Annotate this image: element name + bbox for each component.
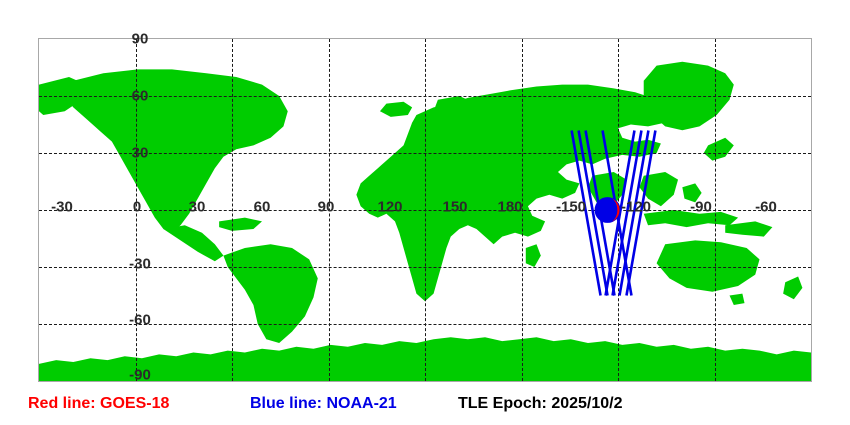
- antarctica: [39, 337, 811, 381]
- lat-tick--30: -30: [129, 257, 151, 272]
- japan: [704, 138, 734, 161]
- caribbean: [219, 218, 262, 231]
- lat-tick-30: 30: [132, 146, 149, 161]
- legend-red-line: Red line: GOES-18: [28, 396, 169, 412]
- lon-tick-30: 30: [189, 200, 206, 215]
- lon-tick--150: -150: [556, 200, 586, 215]
- australia: [657, 240, 760, 291]
- tasmania: [730, 294, 745, 305]
- lon-tick--90: -90: [690, 200, 712, 215]
- lon-tick--60: -60: [755, 200, 777, 215]
- lat-tick-60: 60: [132, 89, 149, 104]
- iceland: [380, 102, 412, 117]
- legend-tle-epoch: TLE Epoch: 2025/10/2: [458, 396, 623, 412]
- lon-tick-180: 180: [497, 200, 522, 215]
- lat-tick-90: 90: [132, 32, 149, 47]
- new-zealand: [783, 277, 802, 300]
- eurasia-africa: [356, 85, 673, 302]
- lon-tick-60: 60: [254, 200, 271, 215]
- lat-tick--60: -60: [129, 313, 151, 328]
- south-america: [223, 244, 317, 343]
- new-guinea: [725, 221, 772, 236]
- lon-tick--120: -120: [621, 200, 651, 215]
- legend: Red line: GOES-18 Blue line: NOAA-21 TLE…: [0, 392, 850, 422]
- lon-tick-150: 150: [442, 200, 467, 215]
- lon-tick-120: 120: [377, 200, 402, 215]
- lon-tick-0: 0: [133, 200, 141, 215]
- central-america: [163, 225, 223, 261]
- lon-tick--30: -30: [51, 200, 73, 215]
- continents-group: [39, 62, 811, 381]
- lat-tick--90: -90: [129, 368, 151, 383]
- lon-tick-90: 90: [318, 200, 335, 215]
- madagascar: [526, 244, 541, 267]
- legend-blue-line: Blue line: NOAA-21: [250, 396, 397, 412]
